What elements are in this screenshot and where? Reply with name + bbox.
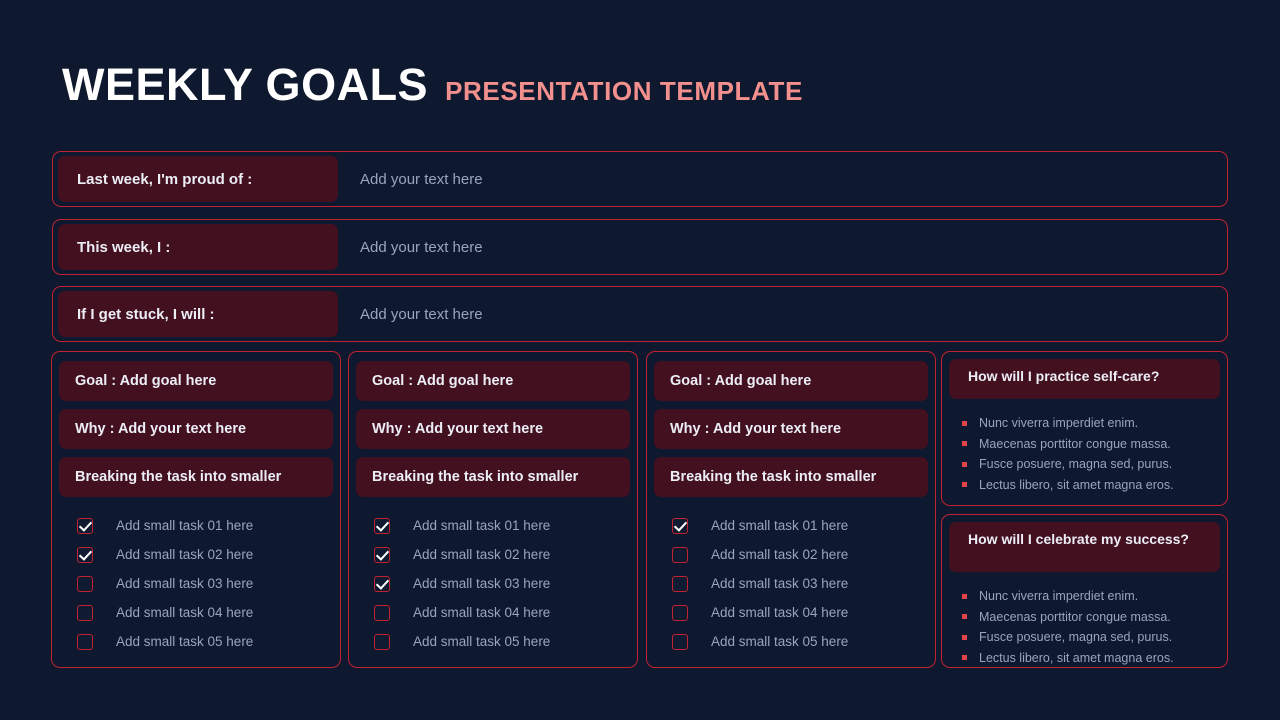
bullet-square-icon	[962, 462, 967, 467]
why-label: Why : Add your text here	[670, 421, 841, 437]
checkbox-icon[interactable]	[374, 518, 390, 534]
prompt-text-input[interactable]: Add your text here	[360, 306, 483, 323]
checkbox-icon[interactable]	[77, 547, 93, 563]
prompt-row[interactable]: If I get stuck, I will : Add your text h…	[52, 286, 1228, 342]
slide-canvas: WEEKLY GOALS PRESENTATION TEMPLATE Last …	[0, 0, 1280, 720]
prompt-row[interactable]: This week, I : Add your text here	[52, 219, 1228, 275]
self-care-bullet-list: Nunc viverra imperdiet enim. Maecenas po…	[949, 413, 1220, 495]
task-label: Add small task 01 here	[116, 518, 253, 533]
bullet-text: Fusce posuere, magna sed, purus.	[979, 630, 1172, 644]
breaking-task-label: Breaking the task into smaller	[372, 469, 578, 485]
task-row[interactable]: Add small task 05 here	[59, 627, 333, 656]
goal-label: Goal : Add goal here	[75, 373, 216, 389]
prompt-label-chip: If I get stuck, I will :	[58, 291, 338, 337]
celebrate-heading-chip: How will I celebrate my success?	[949, 522, 1220, 572]
task-row[interactable]: Add small task 02 here	[59, 540, 333, 569]
task-label: Add small task 03 here	[413, 576, 550, 591]
list-item: Nunc viverra imperdiet enim.	[962, 586, 1220, 607]
prompt-text-input[interactable]: Add your text here	[360, 171, 483, 188]
task-row[interactable]: Add small task 03 here	[654, 569, 928, 598]
self-care-heading: How will I practice self-care?	[968, 368, 1159, 384]
checkbox-icon[interactable]	[77, 634, 93, 650]
task-row[interactable]: Add small task 05 here	[356, 627, 630, 656]
list-item: Maecenas porttitor congue massa.	[962, 607, 1220, 628]
bullet-square-icon	[962, 655, 967, 660]
bullet-text: Lectus libero, sit amet magna eros.	[979, 651, 1174, 665]
task-list: Add small task 01 here Add small task 02…	[654, 511, 928, 656]
why-label: Why : Add your text here	[75, 421, 246, 437]
goal-column: Goal : Add goal here Why : Add your text…	[646, 351, 936, 668]
bullet-square-icon	[962, 594, 967, 599]
task-label: Add small task 03 here	[116, 576, 253, 591]
title-main: WEEKLY GOALS	[62, 62, 428, 107]
task-row[interactable]: Add small task 04 here	[654, 598, 928, 627]
self-care-heading-chip: How will I practice self-care?	[949, 359, 1220, 399]
goal-field[interactable]: Goal : Add goal here	[356, 361, 630, 401]
self-care-panel: How will I practice self-care? Nunc vive…	[941, 351, 1228, 506]
task-label: Add small task 02 here	[413, 547, 550, 562]
celebrate-bullet-list: Nunc viverra imperdiet enim. Maecenas po…	[949, 586, 1220, 668]
task-list: Add small task 01 here Add small task 02…	[59, 511, 333, 656]
checkbox-icon[interactable]	[672, 547, 688, 563]
task-row[interactable]: Add small task 04 here	[356, 598, 630, 627]
prompt-label-chip: This week, I :	[58, 224, 338, 270]
bullet-square-icon	[962, 441, 967, 446]
list-item: Lectus libero, sit amet magna eros.	[962, 475, 1220, 496]
bullet-text: Nunc viverra imperdiet enim.	[979, 416, 1138, 430]
task-row[interactable]: Add small task 01 here	[356, 511, 630, 540]
title-subtitle: PRESENTATION TEMPLATE	[445, 78, 803, 104]
goal-label: Goal : Add goal here	[372, 373, 513, 389]
task-label: Add small task 04 here	[413, 605, 550, 620]
task-label: Add small task 02 here	[711, 547, 848, 562]
breaking-task-label: Breaking the task into smaller	[670, 469, 876, 485]
breaking-task-field[interactable]: Breaking the task into smaller	[356, 457, 630, 497]
list-item: Nunc viverra imperdiet enim.	[962, 413, 1220, 434]
task-label: Add small task 02 here	[116, 547, 253, 562]
task-label: Add small task 04 here	[711, 605, 848, 620]
breaking-task-field[interactable]: Breaking the task into smaller	[654, 457, 928, 497]
bullet-text: Lectus libero, sit amet magna eros.	[979, 478, 1174, 492]
celebrate-success-panel: How will I celebrate my success? Nunc vi…	[941, 514, 1228, 668]
checkbox-icon[interactable]	[374, 605, 390, 621]
bullet-text: Maecenas porttitor congue massa.	[979, 610, 1171, 624]
checkbox-icon[interactable]	[672, 518, 688, 534]
prompt-label: If I get stuck, I will :	[77, 306, 215, 323]
task-row[interactable]: Add small task 03 here	[59, 569, 333, 598]
celebrate-heading: How will I celebrate my success?	[968, 531, 1189, 547]
task-label: Add small task 05 here	[711, 634, 848, 649]
breaking-task-label: Breaking the task into smaller	[75, 469, 281, 485]
checkbox-icon[interactable]	[374, 547, 390, 563]
list-item: Lectus libero, sit amet magna eros.	[962, 648, 1220, 669]
bullet-square-icon	[962, 421, 967, 426]
checkbox-icon[interactable]	[374, 634, 390, 650]
goal-column: Goal : Add goal here Why : Add your text…	[51, 351, 341, 668]
checkbox-icon[interactable]	[374, 576, 390, 592]
checkbox-icon[interactable]	[672, 576, 688, 592]
why-field[interactable]: Why : Add your text here	[59, 409, 333, 449]
task-label: Add small task 05 here	[116, 634, 253, 649]
task-row[interactable]: Add small task 02 here	[654, 540, 928, 569]
bullet-square-icon	[962, 614, 967, 619]
task-label: Add small task 05 here	[413, 634, 550, 649]
checkbox-icon[interactable]	[672, 605, 688, 621]
list-item: Maecenas porttitor congue massa.	[962, 434, 1220, 455]
task-label: Add small task 01 here	[711, 518, 848, 533]
list-item: Fusce posuere, magna sed, purus.	[962, 627, 1220, 648]
prompt-label: Last week, I'm proud of :	[77, 171, 252, 188]
prompt-row[interactable]: Last week, I'm proud of : Add your text …	[52, 151, 1228, 207]
checkbox-icon[interactable]	[77, 605, 93, 621]
goal-column: Goal : Add goal here Why : Add your text…	[348, 351, 638, 668]
list-item: Fusce posuere, magna sed, purus.	[962, 454, 1220, 475]
bullet-text: Nunc viverra imperdiet enim.	[979, 589, 1138, 603]
why-field[interactable]: Why : Add your text here	[356, 409, 630, 449]
bullet-text: Fusce posuere, magna sed, purus.	[979, 457, 1172, 471]
task-label: Add small task 03 here	[711, 576, 848, 591]
task-list: Add small task 01 here Add small task 02…	[356, 511, 630, 656]
task-row[interactable]: Add small task 01 here	[654, 511, 928, 540]
bullet-text: Maecenas porttitor congue massa.	[979, 437, 1171, 451]
checkbox-icon[interactable]	[672, 634, 688, 650]
why-field[interactable]: Why : Add your text here	[654, 409, 928, 449]
task-row[interactable]: Add small task 03 here	[356, 569, 630, 598]
prompt-label-chip: Last week, I'm proud of :	[58, 156, 338, 202]
task-row[interactable]: Add small task 05 here	[654, 627, 928, 656]
why-label: Why : Add your text here	[372, 421, 543, 437]
task-row[interactable]: Add small task 04 here	[59, 598, 333, 627]
task-row[interactable]: Add small task 01 here	[59, 511, 333, 540]
bullet-square-icon	[962, 635, 967, 640]
task-row[interactable]: Add small task 02 here	[356, 540, 630, 569]
prompt-label: This week, I :	[77, 239, 170, 256]
goal-label: Goal : Add goal here	[670, 373, 811, 389]
goal-field[interactable]: Goal : Add goal here	[654, 361, 928, 401]
page-title: WEEKLY GOALS PRESENTATION TEMPLATE	[62, 62, 803, 107]
checkbox-icon[interactable]	[77, 576, 93, 592]
bullet-square-icon	[962, 482, 967, 487]
goal-field[interactable]: Goal : Add goal here	[59, 361, 333, 401]
task-label: Add small task 01 here	[413, 518, 550, 533]
checkbox-icon[interactable]	[77, 518, 93, 534]
breaking-task-field[interactable]: Breaking the task into smaller	[59, 457, 333, 497]
task-label: Add small task 04 here	[116, 605, 253, 620]
prompt-text-input[interactable]: Add your text here	[360, 239, 483, 256]
